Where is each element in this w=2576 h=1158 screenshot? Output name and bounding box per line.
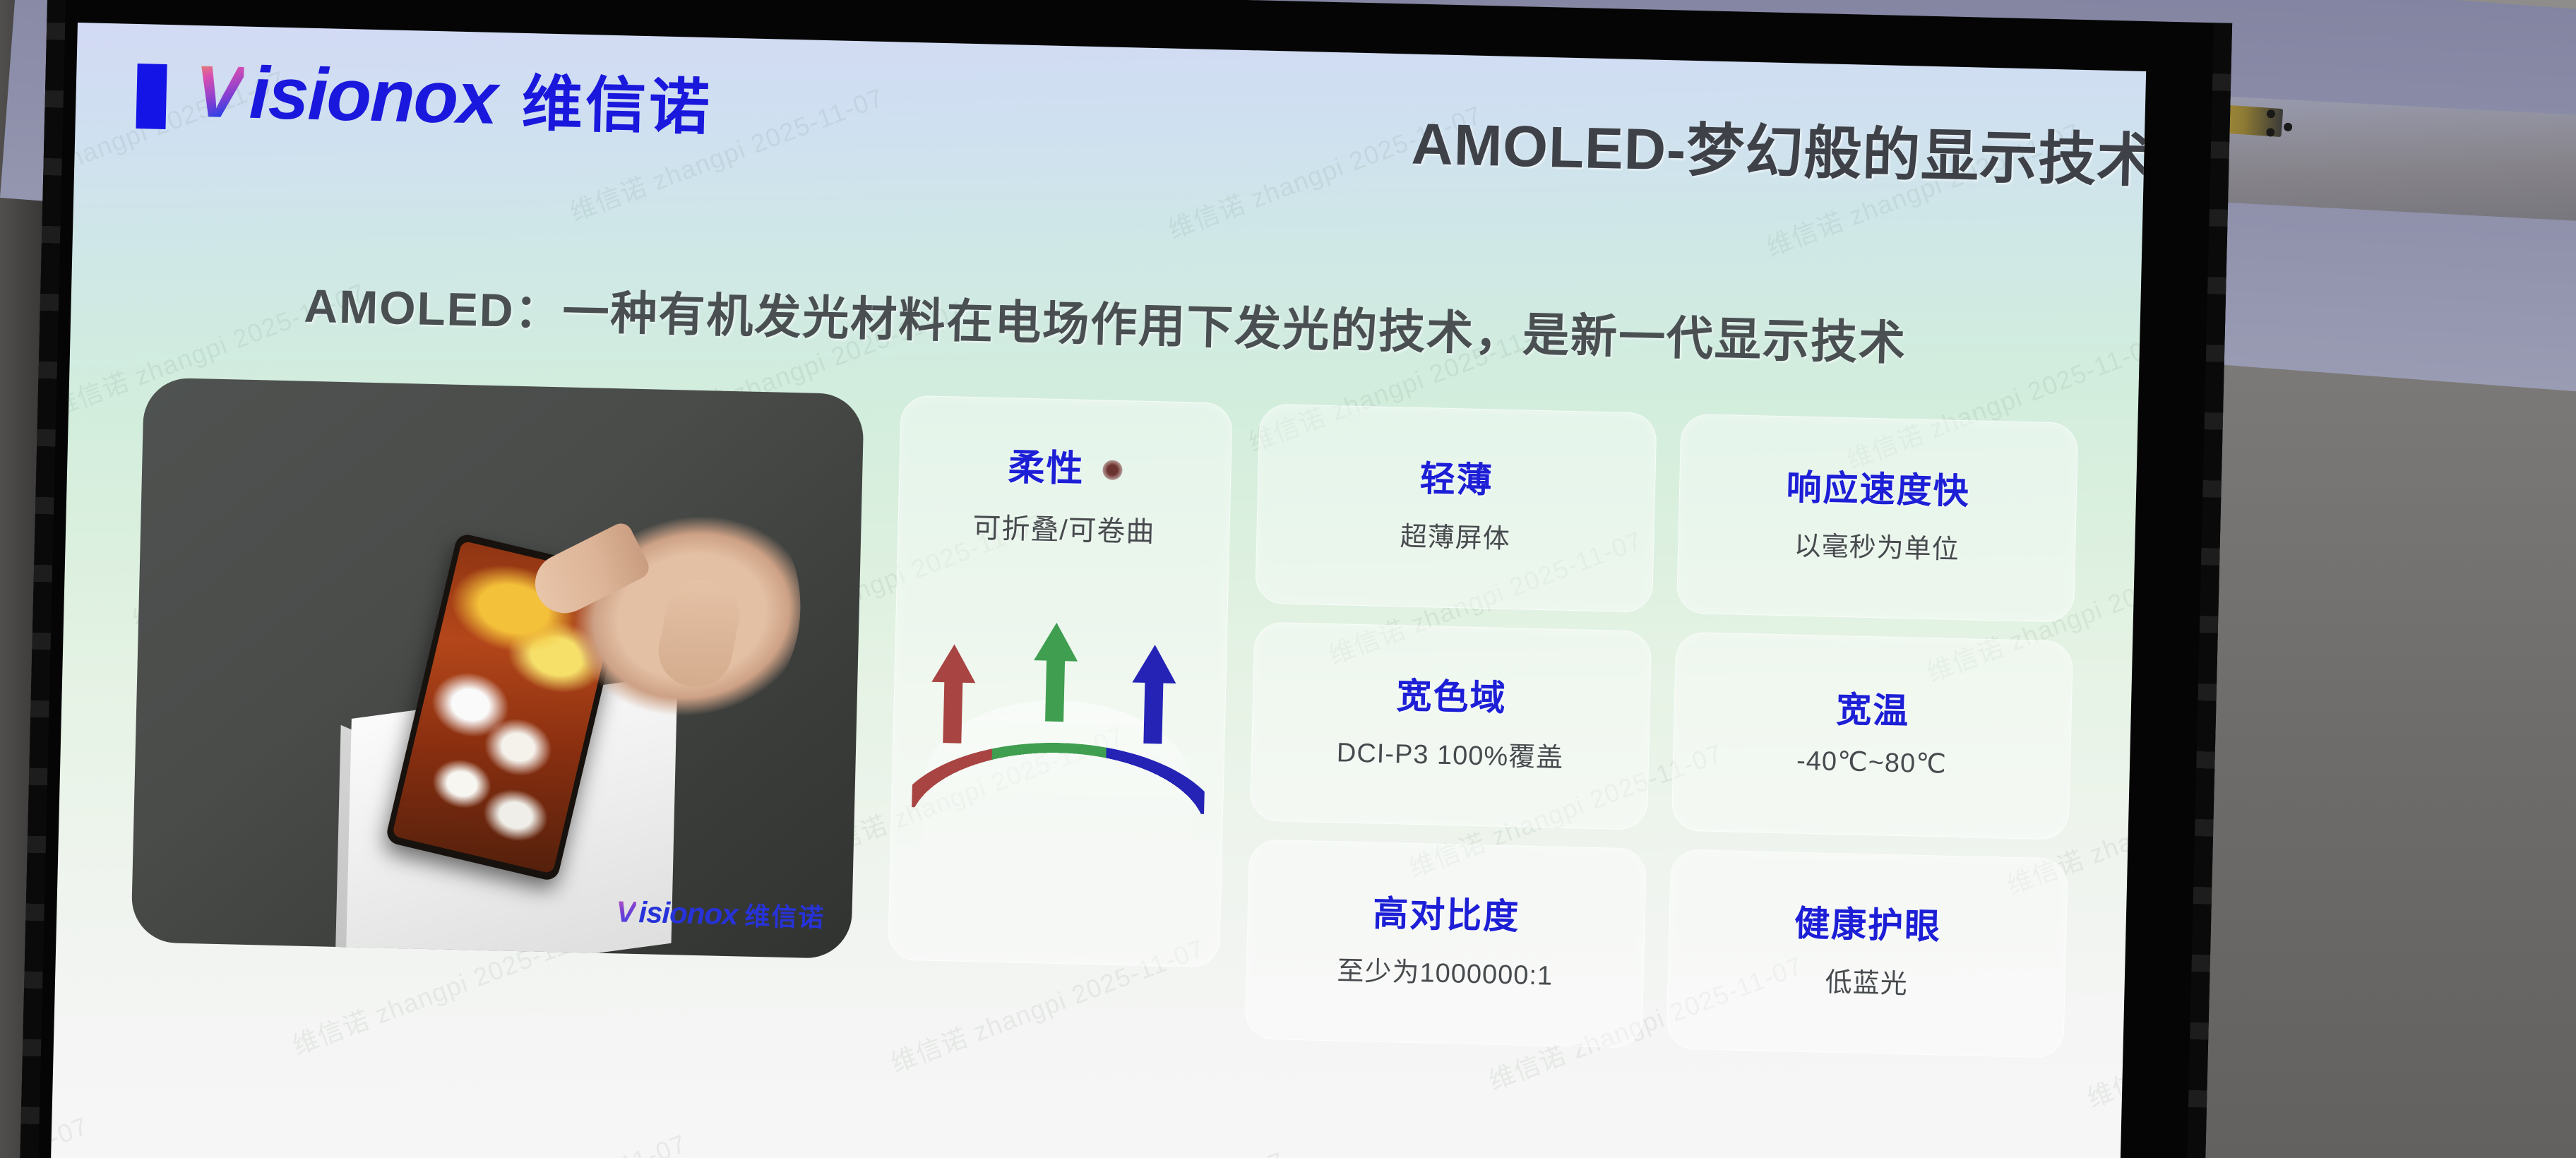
feature-title-row: 柔性 — [1008, 449, 1123, 489]
slide-body: V isionox 维信诺 柔性 可折叠/可卷曲 — [129, 377, 2078, 1058]
feature-card-eye-care[interactable]: 健康护眼 低蓝光 — [1666, 849, 2068, 1058]
feature-title: 高对比度 — [1373, 896, 1520, 935]
feature-title: 宽色域 — [1396, 679, 1507, 717]
feature-card-grid: 轻薄 超薄屏体 响应速度快 以毫秒为单位 宽色域 DCI-P3 100%覆盖 宽… — [1245, 404, 2079, 1058]
logo-chinese-name: 维信诺 — [521, 73, 713, 138]
feature-title: 轻薄 — [1419, 461, 1493, 498]
projected-slide: 维信诺 zhangpi 2025-11-07维信诺 zhangpi 2025-1… — [49, 23, 2146, 1158]
subtitle-lead: AMOLED： — [304, 280, 563, 338]
feature-subtitle: -40℃~80℃ — [1796, 745, 1948, 780]
feature-subtitle: 至少为1000000:1 — [1337, 949, 1554, 993]
slide-title: AMOLED-梦幻般的显示技术 — [1411, 97, 2147, 198]
photo-watermark-logo: V isionox 维信诺 — [616, 893, 825, 934]
feature-cards: 柔性 可折叠/可卷曲 — [886, 395, 2079, 1058]
slide-subtitle: AMOLED：一种有机发光材料在电场作用下发光的技术，是新一代显示技术 — [71, 263, 2140, 379]
photo-logo-wordmark: isionox — [638, 895, 738, 931]
flexible-display-photo: V isionox 维信诺 — [131, 377, 864, 959]
feature-card-flexibility[interactable]: 柔性 可折叠/可卷曲 — [888, 395, 1233, 968]
ceiling-fixture-screws — [2255, 105, 2322, 151]
room-photograph: 维信诺 zhangpi 2025-11-07维信诺 zhangpi 2025-1… — [0, 0, 2576, 1158]
dot-icon — [1102, 460, 1123, 480]
feature-subtitle: 超薄屏体 — [1400, 514, 1510, 556]
feature-card-contrast[interactable]: 高对比度 至少为1000000:1 — [1245, 840, 1647, 1049]
rgb-emission-illustration — [916, 612, 1203, 816]
feature-title: 宽温 — [1836, 692, 1910, 729]
green-arrow-icon — [1032, 622, 1078, 722]
curved-rgb-substrate — [912, 739, 1205, 814]
feature-subtitle: 低蓝光 — [1825, 960, 1908, 1001]
logo-v-glyph: V — [194, 55, 245, 130]
visionox-logo: V isionox 维信诺 — [194, 55, 714, 141]
feature-card-color-gamut[interactable]: 宽色域 DCI-P3 100%覆盖 — [1250, 621, 1652, 830]
subtitle-body: 一种有机发光材料在电场作用下发光的技术，是新一代显示技术 — [562, 285, 1907, 369]
feature-card-thin[interactable]: 轻薄 超薄屏体 — [1255, 404, 1657, 613]
photo-logo-v-glyph: V — [616, 895, 636, 929]
feature-title: 响应速度快 — [1786, 470, 1970, 509]
feature-subtitle: 以毫秒为单位 — [1794, 523, 1960, 566]
feature-title: 柔性 — [1008, 449, 1085, 488]
feature-subtitle: 可折叠/可卷曲 — [972, 505, 1155, 550]
photo-logo-chinese-name: 维信诺 — [744, 896, 825, 935]
feature-card-wide-temperature[interactable]: 宽温 -40℃~80℃ — [1671, 631, 2074, 840]
feature-title: 健康护眼 — [1794, 906, 1942, 945]
feature-card-response-speed[interactable]: 响应速度快 以毫秒为单位 — [1676, 414, 2079, 623]
accent-bar — [136, 64, 167, 129]
logo-wordmark: isionox — [249, 56, 497, 136]
feature-subtitle: DCI-P3 100%覆盖 — [1336, 731, 1564, 775]
red-arrow-icon — [930, 644, 976, 744]
blue-arrow-icon — [1131, 644, 1176, 744]
